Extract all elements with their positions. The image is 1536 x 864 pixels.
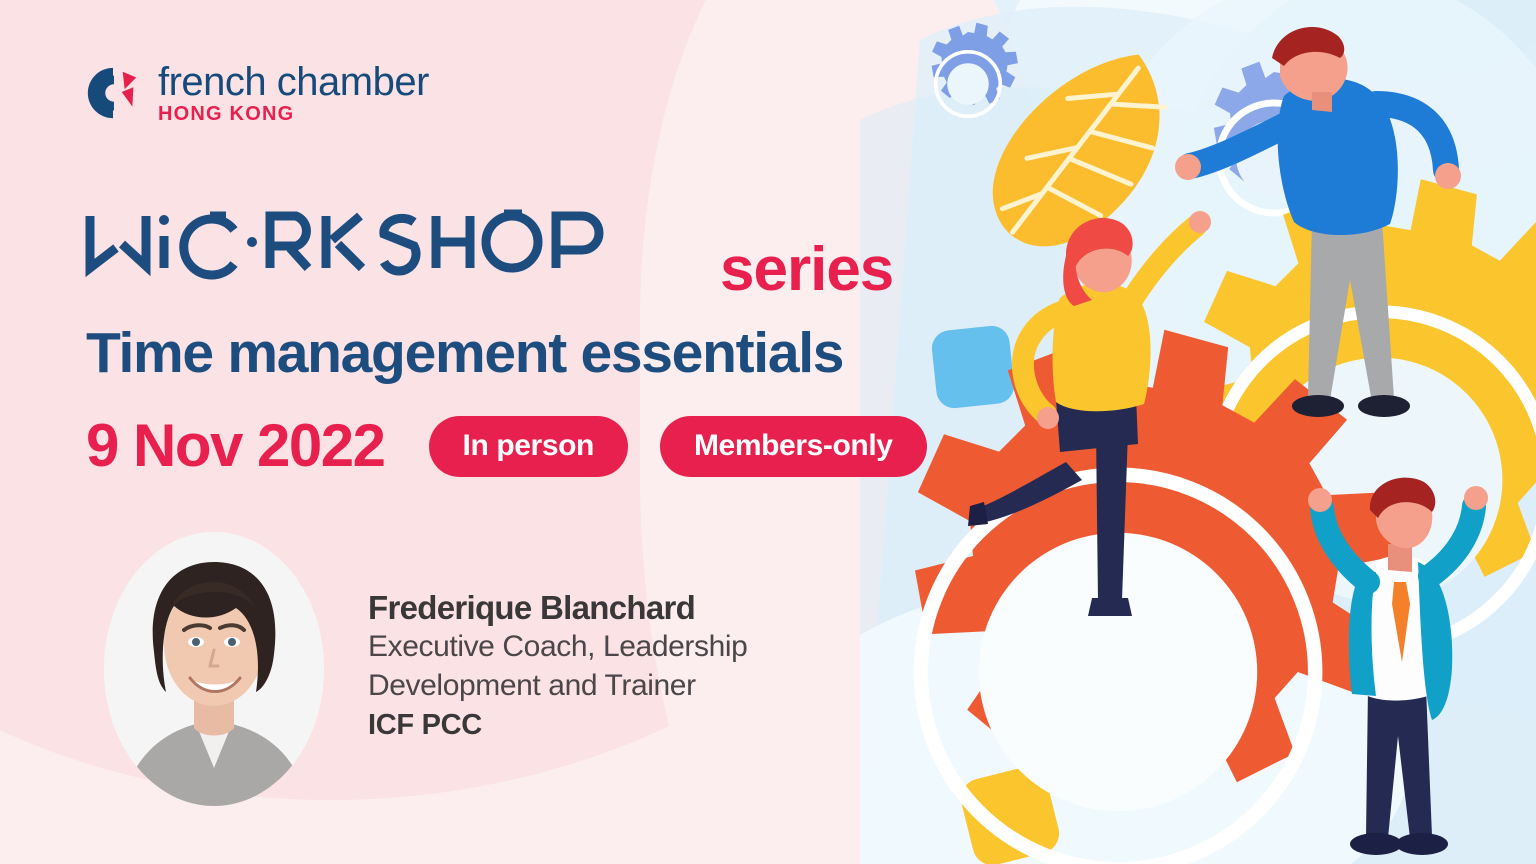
speaker-name: Frederique Blanchard (368, 588, 747, 628)
workshop-wordmark (84, 208, 704, 294)
avatar (104, 532, 324, 806)
poster-canvas: french chamber HONG KONG (0, 0, 1536, 864)
event-date: 9 Nov 2022 (86, 416, 385, 476)
series-label: series (720, 234, 893, 305)
speaker-details: Frederique Blanchard Executive Coach, Le… (368, 532, 747, 745)
tag-in-person[interactable]: In person (429, 416, 628, 477)
tag-members-only[interactable]: Members-only (660, 416, 927, 477)
speaker-block: Frederique Blanchard Executive Coach, Le… (104, 532, 747, 806)
speaker-role-line-1: Executive Coach, Leadership (368, 628, 747, 666)
logo-location: HONG KONG (158, 104, 429, 124)
speaker-credential: ICF PCC (368, 707, 747, 745)
speaker-role-line-2: Development and Trainer (368, 667, 747, 705)
page-title: Time management essentials (86, 320, 843, 386)
square-blue-rounded (930, 324, 1016, 410)
people-with-gears-illustration (860, 0, 1536, 864)
headline-row: series (84, 208, 893, 309)
logo-brand-name: french chamber (158, 62, 429, 102)
cci-arc-logo-icon (82, 62, 144, 124)
event-meta: 9 Nov 2022 In person Members-only (86, 416, 927, 477)
french-chamber-logo: french chamber HONG KONG (82, 62, 429, 124)
